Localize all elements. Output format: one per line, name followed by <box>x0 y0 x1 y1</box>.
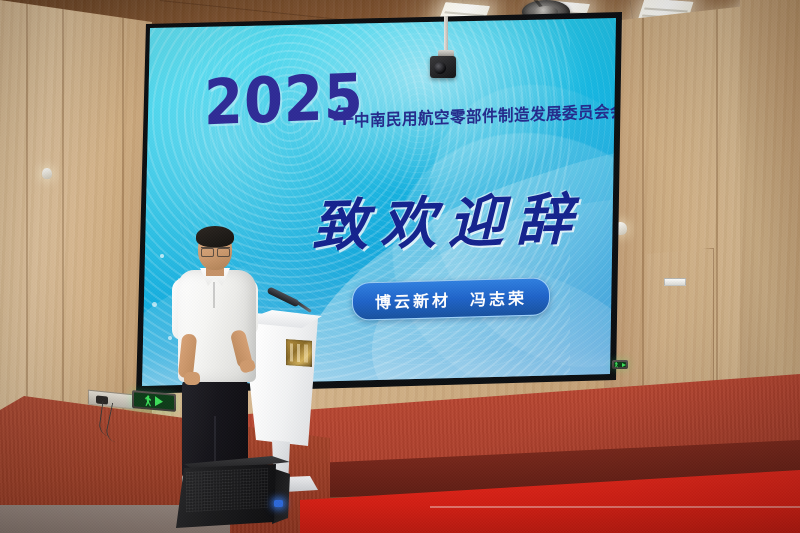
exit-sign-face <box>614 362 626 367</box>
screen-bubble <box>152 302 157 307</box>
speaker-power-led <box>274 500 283 507</box>
speaker-grille <box>186 468 268 512</box>
exit-sign <box>612 360 628 369</box>
wall-seam <box>122 0 124 450</box>
wall-sconce-icon <box>42 168 52 179</box>
wall-seam <box>62 0 64 462</box>
wall-seam <box>26 0 28 460</box>
screen-bubble <box>160 254 164 258</box>
screen-year-suffix: 年 <box>333 100 354 131</box>
running-man-icon <box>615 362 619 368</box>
glasses-icon <box>201 247 230 254</box>
service-door[interactable] <box>646 248 714 388</box>
lectern-emblem-icon <box>286 339 312 367</box>
arrow-right-icon <box>622 363 626 367</box>
running-man-icon <box>145 395 152 407</box>
arrow-right-icon <box>155 396 163 407</box>
shirt-placket <box>213 282 215 308</box>
microphone-capsule-icon <box>266 286 300 307</box>
hair <box>196 226 234 247</box>
screen-main-title: 致欢迎辞 <box>312 174 584 263</box>
speaker-person <box>168 228 266 490</box>
camera-lens-icon <box>434 62 446 74</box>
wall-seam <box>642 10 644 430</box>
hand-left <box>184 372 200 385</box>
wall-seam <box>716 4 718 428</box>
gooseneck-microphone <box>268 286 312 322</box>
stage-monitor-speaker <box>176 456 290 530</box>
door-sign <box>664 278 686 286</box>
screen-speaker-badge: 博云新材 冯志荣 <box>352 277 550 321</box>
photo-scene: 2025 年 中南民用航空零部件制造发展委员会会议 致欢迎辞 博云新材 冯志荣 <box>0 0 800 533</box>
